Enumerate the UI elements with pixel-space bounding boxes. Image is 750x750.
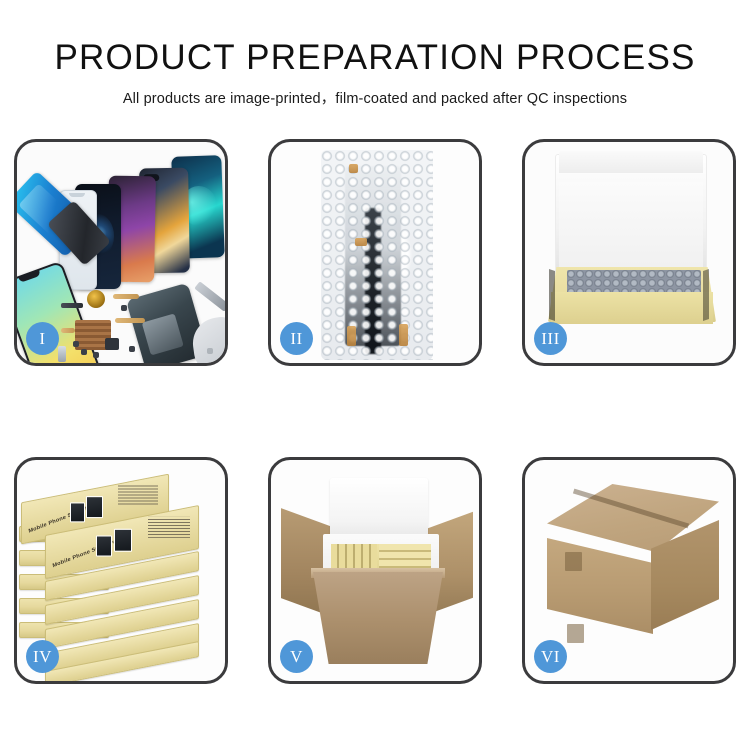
foam-liner — [559, 182, 703, 274]
step-badge-6: VI — [534, 640, 567, 673]
foam-box-lid — [330, 478, 428, 540]
camera-module-part — [87, 290, 105, 308]
carton-body — [313, 572, 443, 664]
process-step-5[interactable]: V White foam box filled with cream boxes… — [268, 457, 482, 684]
screw-part-6 — [207, 348, 213, 354]
process-step-4[interactable]: Mobile Phone Spare Parts Mobile Phone Sp… — [14, 457, 228, 684]
flex-cable-part-1 — [113, 294, 139, 299]
process-step-grid: I Assorted smartphone displays, back gla… — [14, 139, 736, 684]
tape-piece-1 — [349, 164, 358, 173]
antenna-bar-part — [61, 303, 83, 308]
tape-piece-3 — [347, 326, 356, 346]
process-step-3[interactable]: III Open cream inner carton lined with w… — [522, 139, 736, 366]
tape-piece-4 — [399, 324, 408, 346]
tape-piece-2 — [355, 238, 367, 246]
screw-part-3 — [93, 352, 99, 358]
carton-lid-top-edge — [559, 151, 703, 173]
taptic-engine-part — [105, 338, 119, 350]
step-badge-2: II — [280, 322, 313, 355]
printed-box-second-window-2 — [114, 529, 132, 552]
step-badge-4: IV — [26, 640, 59, 673]
screw-part-2 — [81, 349, 87, 355]
carton-front-panel — [551, 292, 713, 324]
carton-left-edge — [549, 269, 555, 321]
tweezer-tool — [194, 281, 225, 311]
printed-box-second-text-block — [148, 517, 190, 538]
process-step-2[interactable]: II Part sealed inside a clear bubble wra… — [268, 139, 482, 366]
carton-tape-patch-top — [565, 552, 582, 571]
page-title: PRODUCT PREPARATION PROCESS — [0, 40, 750, 77]
flex-cable-part-2 — [115, 318, 145, 323]
screw-part-4 — [121, 305, 127, 311]
flex-cable-part-3 — [61, 328, 75, 333]
screw-part-1 — [73, 341, 79, 347]
printed-box-top-text-block — [118, 485, 158, 505]
page-header: PRODUCT PREPARATION PROCESS All products… — [0, 0, 750, 108]
step-badge-3: III — [534, 322, 567, 355]
carton-tape-patch-bottom — [567, 624, 584, 643]
bubble-wrap-pouch — [321, 150, 433, 360]
screw-part-5 — [129, 346, 135, 352]
step-badge-1: I — [26, 322, 59, 355]
page-subtitle: All products are image-printed，film-coat… — [0, 87, 750, 108]
printed-box-top-window-2 — [86, 496, 103, 518]
printed-box-second-window-1 — [96, 535, 112, 556]
carton-right-edge — [703, 269, 709, 321]
printed-box-top-window-1 — [70, 502, 85, 522]
battery-part — [58, 346, 66, 362]
carton-front-face — [547, 538, 653, 634]
process-step-1[interactable]: I Assorted smartphone displays, back gla… — [14, 139, 228, 366]
bubble-texture — [321, 150, 433, 360]
process-step-6[interactable]: VI Sealed and taped brown corrugated shi… — [522, 457, 736, 684]
step-badge-5: V — [280, 640, 313, 673]
